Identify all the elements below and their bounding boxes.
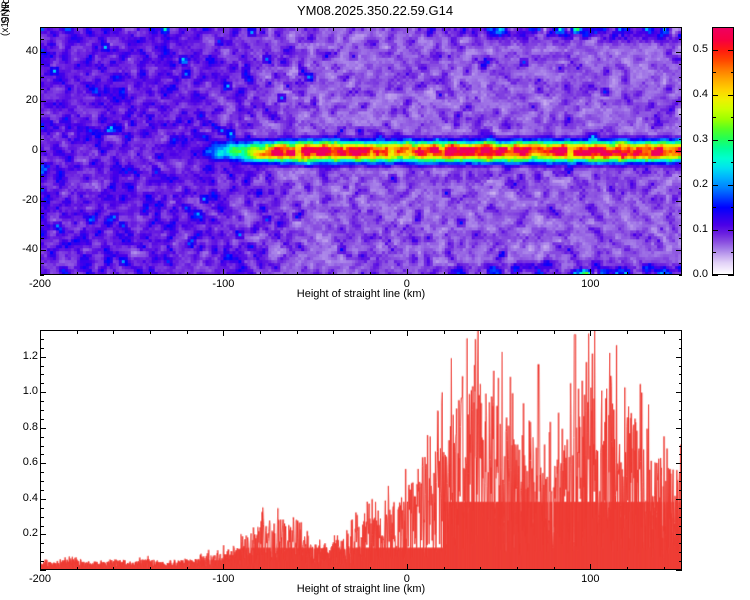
axis-tick bbox=[187, 27, 188, 31]
axis-tick bbox=[40, 428, 46, 429]
axis-tick bbox=[260, 272, 261, 276]
axis-tick bbox=[40, 463, 46, 464]
axis-tick bbox=[728, 140, 734, 141]
axis-tick bbox=[676, 357, 682, 358]
axis-tick bbox=[679, 263, 683, 264]
axis-tick bbox=[40, 534, 46, 535]
axis-tick bbox=[679, 339, 683, 340]
axis-tick bbox=[554, 567, 555, 571]
axis-tick bbox=[40, 499, 46, 500]
axis-tick bbox=[40, 52, 46, 53]
axis-tick bbox=[676, 151, 682, 152]
axis-tick bbox=[627, 330, 628, 334]
spectrogram-x-tick-label: 100 bbox=[560, 278, 620, 290]
axis-tick bbox=[223, 27, 224, 33]
axis-tick bbox=[554, 27, 555, 31]
axis-tick bbox=[40, 213, 44, 214]
axis-tick bbox=[679, 561, 683, 562]
axis-tick bbox=[627, 567, 628, 571]
axis-tick bbox=[40, 392, 46, 393]
axis-tick bbox=[40, 348, 44, 349]
axis-tick bbox=[664, 330, 665, 334]
colorbar-gradient bbox=[713, 28, 733, 274]
axis-tick bbox=[712, 117, 716, 118]
axis-tick bbox=[40, 275, 44, 276]
colorbar-tick-label: 0.0 bbox=[684, 268, 708, 280]
snr-y-tick-label: 1.2 bbox=[18, 350, 38, 362]
axis-tick bbox=[113, 567, 114, 571]
colorbar-scale bbox=[712, 27, 734, 275]
axis-tick bbox=[223, 564, 224, 570]
axis-tick bbox=[40, 151, 46, 152]
axis-tick bbox=[679, 517, 683, 518]
axis-tick bbox=[731, 117, 735, 118]
axis-tick bbox=[333, 567, 334, 571]
axis-tick bbox=[679, 114, 683, 115]
axis-tick bbox=[590, 564, 591, 570]
axis-tick bbox=[517, 567, 518, 571]
axis-tick bbox=[679, 27, 683, 28]
axis-tick bbox=[679, 481, 683, 482]
axis-tick bbox=[679, 401, 683, 402]
axis-tick bbox=[40, 570, 46, 571]
axis-tick bbox=[679, 89, 683, 90]
axis-tick bbox=[679, 139, 683, 140]
axis-tick bbox=[712, 162, 716, 163]
axis-tick bbox=[40, 250, 46, 251]
spectrogram-x-axis-label: Height of straight line (km) bbox=[240, 288, 482, 300]
axis-tick bbox=[40, 225, 44, 226]
axis-tick bbox=[260, 330, 261, 334]
axis-tick bbox=[627, 27, 628, 31]
colorbar-tick-label: 0.1 bbox=[684, 223, 708, 235]
axis-tick bbox=[590, 330, 591, 336]
axis-tick bbox=[260, 567, 261, 571]
axis-tick bbox=[676, 534, 682, 535]
axis-tick bbox=[480, 272, 481, 276]
axis-tick bbox=[407, 330, 408, 336]
spectrogram-y-tick-label: 0 bbox=[20, 144, 38, 156]
snr-plot-area bbox=[40, 330, 682, 570]
axis-tick bbox=[480, 330, 481, 334]
axis-tick bbox=[223, 269, 224, 275]
colorbar-tick-label: 0.4 bbox=[684, 88, 708, 100]
axis-tick bbox=[679, 39, 683, 40]
axis-tick bbox=[676, 570, 682, 571]
axis-tick bbox=[40, 481, 44, 482]
axis-tick bbox=[444, 567, 445, 571]
axis-tick bbox=[40, 330, 41, 336]
axis-tick bbox=[40, 446, 44, 447]
axis-tick bbox=[40, 176, 44, 177]
axis-tick bbox=[712, 207, 716, 208]
axis-tick bbox=[679, 366, 683, 367]
axis-tick bbox=[712, 140, 718, 141]
axis-tick bbox=[333, 27, 334, 31]
axis-tick bbox=[407, 564, 408, 570]
axis-tick bbox=[679, 526, 683, 527]
axis-tick bbox=[187, 567, 188, 571]
axis-tick bbox=[40, 27, 44, 28]
axis-tick bbox=[40, 39, 44, 40]
axis-tick bbox=[297, 330, 298, 334]
axis-tick bbox=[712, 230, 718, 231]
axis-tick bbox=[370, 272, 371, 276]
axis-tick bbox=[728, 230, 734, 231]
axis-tick bbox=[150, 27, 151, 31]
axis-tick bbox=[676, 428, 682, 429]
axis-tick bbox=[223, 330, 224, 336]
axis-tick bbox=[679, 552, 683, 553]
snr-y-tick-label: 0.2 bbox=[18, 527, 38, 539]
axis-tick bbox=[664, 567, 665, 571]
axis-tick bbox=[517, 272, 518, 276]
axis-tick bbox=[40, 561, 44, 562]
axis-tick bbox=[679, 490, 683, 491]
axis-tick bbox=[40, 188, 44, 189]
axis-tick bbox=[407, 269, 408, 275]
axis-tick bbox=[679, 163, 683, 164]
axis-tick bbox=[187, 330, 188, 334]
axis-tick bbox=[664, 27, 665, 31]
snr-y-tick-label: 0.8 bbox=[18, 421, 38, 433]
axis-tick bbox=[297, 27, 298, 31]
axis-tick bbox=[370, 567, 371, 571]
axis-tick bbox=[679, 454, 683, 455]
spectrogram-image bbox=[41, 28, 681, 274]
axis-tick bbox=[150, 330, 151, 334]
axis-tick bbox=[679, 472, 683, 473]
axis-tick bbox=[40, 383, 44, 384]
axis-tick bbox=[676, 463, 682, 464]
axis-tick bbox=[590, 269, 591, 275]
axis-tick bbox=[40, 77, 44, 78]
axis-tick bbox=[712, 252, 716, 253]
axis-tick bbox=[731, 72, 735, 73]
axis-tick bbox=[113, 272, 114, 276]
axis-tick bbox=[40, 472, 44, 473]
axis-tick bbox=[480, 27, 481, 31]
axis-tick bbox=[731, 162, 735, 163]
axis-tick bbox=[679, 543, 683, 544]
snr-trace-image bbox=[41, 331, 681, 569]
snr-y-tick-label: 1.0 bbox=[18, 385, 38, 397]
axis-tick bbox=[40, 101, 46, 102]
snr-y-tick-label: 0.6 bbox=[18, 456, 38, 468]
snr-y-tick-label: 0.4 bbox=[18, 492, 38, 504]
axis-tick bbox=[260, 27, 261, 31]
axis-tick bbox=[297, 272, 298, 276]
axis-tick bbox=[679, 238, 683, 239]
axis-tick bbox=[728, 95, 734, 96]
axis-tick bbox=[712, 72, 716, 73]
axis-tick bbox=[679, 64, 683, 65]
snr-x-axis-label: Height of straight line (km) bbox=[240, 583, 482, 595]
axis-tick bbox=[679, 374, 683, 375]
axis-tick bbox=[40, 201, 46, 202]
axis-tick bbox=[728, 275, 734, 276]
axis-tick bbox=[679, 437, 683, 438]
axis-tick bbox=[676, 201, 682, 202]
spectrogram-y-tick-label: -20 bbox=[20, 194, 38, 206]
axis-tick bbox=[679, 77, 683, 78]
colorbar-tick-label: 0.3 bbox=[684, 133, 708, 145]
axis-tick bbox=[40, 374, 44, 375]
axis-tick bbox=[712, 50, 718, 51]
axis-tick bbox=[679, 410, 683, 411]
axis-tick bbox=[664, 272, 665, 276]
axis-tick bbox=[517, 27, 518, 31]
axis-tick bbox=[444, 330, 445, 334]
spectrogram-y-tick-label: -40 bbox=[20, 243, 38, 255]
axis-tick bbox=[370, 27, 371, 31]
axis-tick bbox=[40, 410, 44, 411]
axis-tick bbox=[444, 272, 445, 276]
axis-tick bbox=[679, 188, 683, 189]
axis-tick bbox=[40, 366, 44, 367]
axis-tick bbox=[333, 272, 334, 276]
axis-tick bbox=[40, 490, 44, 491]
axis-tick bbox=[77, 272, 78, 276]
axis-tick bbox=[731, 252, 735, 253]
axis-tick bbox=[676, 250, 682, 251]
axis-tick bbox=[40, 139, 44, 140]
axis-tick bbox=[728, 185, 734, 186]
axis-tick bbox=[113, 27, 114, 31]
axis-tick bbox=[40, 238, 44, 239]
axis-tick bbox=[370, 330, 371, 334]
axis-tick bbox=[731, 207, 735, 208]
axis-tick bbox=[627, 272, 628, 276]
spectrogram-y-tick-label: 20 bbox=[20, 94, 38, 106]
axis-tick bbox=[676, 392, 682, 393]
axis-tick bbox=[297, 567, 298, 571]
snr-x-tick-label: 100 bbox=[560, 573, 620, 585]
axis-tick bbox=[480, 567, 481, 571]
spectrogram-plot-area bbox=[40, 27, 682, 275]
axis-tick bbox=[590, 27, 591, 33]
axis-tick bbox=[113, 330, 114, 334]
snr-x-tick-label: -200 bbox=[10, 573, 70, 585]
axis-tick bbox=[40, 552, 44, 553]
axis-tick bbox=[40, 263, 44, 264]
figure-root: YM08.2025.350.22.59.G14 -200-1000100 402… bbox=[0, 0, 750, 600]
snr-scale-label: (x10⁴) bbox=[0, 0, 11, 36]
axis-tick bbox=[40, 526, 44, 527]
axis-tick bbox=[40, 163, 44, 164]
axis-tick bbox=[679, 348, 683, 349]
axis-tick bbox=[333, 330, 334, 334]
axis-tick bbox=[40, 339, 44, 340]
axis-tick bbox=[40, 419, 44, 420]
axis-tick bbox=[407, 27, 408, 33]
axis-tick bbox=[679, 225, 683, 226]
axis-tick bbox=[150, 567, 151, 571]
axis-tick bbox=[676, 499, 682, 500]
axis-tick bbox=[517, 330, 518, 334]
axis-tick bbox=[77, 567, 78, 571]
axis-tick bbox=[712, 185, 718, 186]
axis-tick bbox=[679, 383, 683, 384]
axis-tick bbox=[728, 50, 734, 51]
page-title: YM08.2025.350.22.59.G14 bbox=[0, 3, 750, 18]
axis-tick bbox=[187, 272, 188, 276]
axis-tick bbox=[554, 330, 555, 334]
axis-tick bbox=[554, 272, 555, 276]
axis-tick bbox=[679, 275, 683, 276]
axis-tick bbox=[444, 27, 445, 31]
axis-tick bbox=[679, 176, 683, 177]
axis-tick bbox=[679, 126, 683, 127]
axis-tick bbox=[676, 101, 682, 102]
axis-tick bbox=[679, 419, 683, 420]
axis-tick bbox=[40, 454, 44, 455]
axis-tick bbox=[40, 401, 44, 402]
axis-tick bbox=[77, 330, 78, 334]
colorbar-tick-label: 0.5 bbox=[684, 43, 708, 55]
spectrogram-y-tick-label: 40 bbox=[20, 45, 38, 57]
axis-tick bbox=[40, 437, 44, 438]
colorbar-tick-label: 0.2 bbox=[684, 178, 708, 190]
axis-tick bbox=[712, 275, 718, 276]
axis-tick bbox=[40, 89, 44, 90]
axis-tick bbox=[40, 508, 44, 509]
axis-tick bbox=[40, 126, 44, 127]
axis-tick bbox=[712, 95, 718, 96]
axis-tick bbox=[679, 213, 683, 214]
spectrogram-x-tick-label: -200 bbox=[10, 278, 70, 290]
axis-tick bbox=[150, 272, 151, 276]
axis-tick bbox=[77, 27, 78, 31]
axis-tick bbox=[679, 508, 683, 509]
axis-tick bbox=[676, 52, 682, 53]
axis-tick bbox=[40, 357, 46, 358]
axis-tick bbox=[679, 446, 683, 447]
axis-tick bbox=[40, 517, 44, 518]
axis-tick bbox=[40, 543, 44, 544]
axis-tick bbox=[40, 64, 44, 65]
axis-tick bbox=[40, 114, 44, 115]
